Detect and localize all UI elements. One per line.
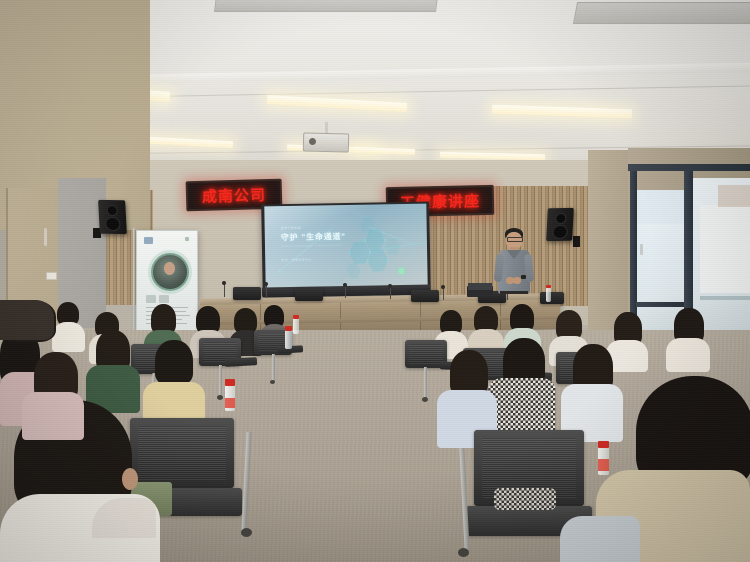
draped-jacket: [494, 488, 556, 510]
chair-leg: [424, 367, 427, 399]
person-body: [666, 338, 710, 372]
water-bottle[interactable]: [285, 330, 292, 349]
chair-caster: [422, 397, 428, 402]
bottle-label: [225, 398, 235, 408]
chair-caster: [270, 380, 275, 384]
person-body: [560, 516, 640, 562]
water-bottle[interactable]: [293, 318, 299, 334]
bottle-cap: [598, 441, 609, 448]
person-ear: [122, 468, 138, 490]
chair-caster: [217, 395, 223, 400]
chair-leg: [219, 365, 222, 397]
conference-room-photo: 成南公司 工健康讲座 生命于安全题 守护 "生命通道" SHOUHU SHENG…: [0, 0, 750, 562]
person-body: [22, 392, 84, 440]
chair-caster: [458, 548, 469, 557]
bottle-cap: [225, 379, 235, 386]
bottle-label: [598, 459, 609, 471]
bottle-cap: [293, 315, 299, 319]
chair-tablet-arm: [225, 357, 257, 367]
bottle-cap: [285, 326, 292, 331]
chair-mesh: [138, 426, 226, 480]
chair-mesh: [409, 344, 443, 364]
person-body: [52, 322, 85, 352]
chair-leg: [272, 354, 275, 382]
chair-caster: [241, 528, 252, 537]
person-body: [0, 300, 54, 340]
